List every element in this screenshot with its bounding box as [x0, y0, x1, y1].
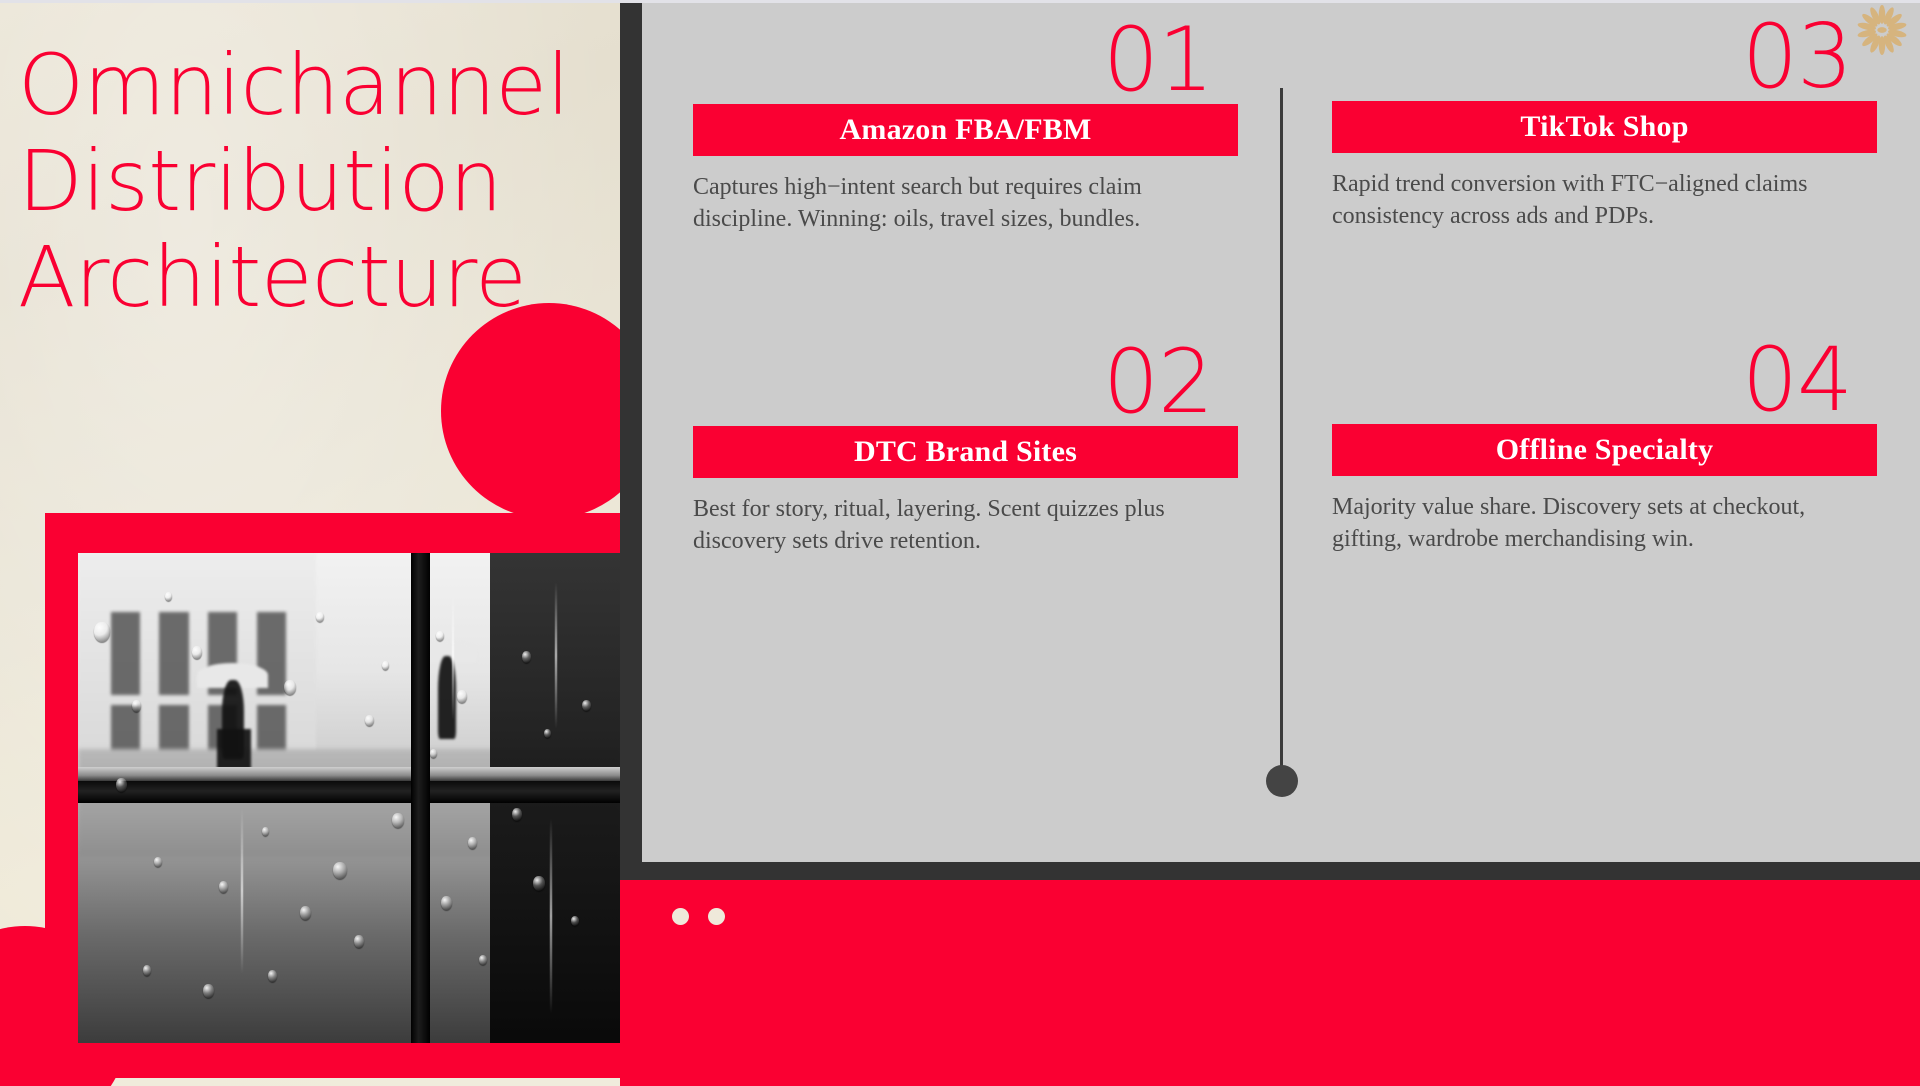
page-top-edge	[0, 0, 1920, 3]
photo-frame	[45, 513, 620, 1078]
cream-dot-2	[708, 908, 725, 925]
red-circle-decoration-right	[441, 303, 620, 519]
card-title-bar: TikTok Shop	[1332, 101, 1877, 153]
vertical-timeline-divider	[1280, 88, 1283, 772]
card-number: 01	[693, 18, 1238, 102]
cream-dot-1	[672, 908, 689, 925]
rainy-window-photo	[78, 553, 620, 1043]
card-title: TikTok Shop	[1520, 110, 1688, 144]
content-panel: 01 Amazon FBA/FBM Captures high−intent s…	[642, 0, 1920, 862]
card-description: Best for story, ritual, layering. Scent …	[693, 494, 1223, 557]
channel-card-04[interactable]: 04 Offline Specialty Majority value shar…	[1332, 338, 1877, 556]
card-title-bar: DTC Brand Sites	[693, 426, 1238, 478]
card-description: Rapid trend conversion with FTC−aligned …	[1332, 169, 1877, 232]
footer-red-band	[620, 880, 1920, 1086]
card-title: DTC Brand Sites	[854, 435, 1077, 469]
slide-canvas: Omnichannel Distribution Architecture	[0, 0, 1920, 1086]
card-title: Amazon FBA/FBM	[840, 113, 1092, 147]
title-line-3: Architecture	[18, 230, 598, 326]
title-line-2: Distribution	[18, 134, 598, 230]
slide-title: Omnichannel Distribution Architecture	[18, 38, 598, 325]
card-description: Majority value share. Discovery sets at …	[1332, 492, 1877, 555]
card-title-bar: Offline Specialty	[1332, 424, 1877, 476]
card-title: Offline Specialty	[1496, 433, 1714, 467]
title-line-1: Omnichannel	[18, 38, 598, 134]
channel-card-03[interactable]: 03 TikTok Shop Rapid trend conversion wi…	[1332, 15, 1877, 233]
channel-card-02[interactable]: 02 DTC Brand Sites Best for story, ritua…	[693, 340, 1238, 558]
frame-strip-horizontal	[620, 862, 1920, 882]
card-number: 03	[1332, 15, 1877, 99]
card-description: Captures high−intent search but requires…	[693, 172, 1223, 235]
frame-strip-vertical	[620, 0, 642, 880]
card-number: 04	[1332, 338, 1877, 422]
timeline-end-dot	[1266, 765, 1298, 797]
card-title-bar: Amazon FBA/FBM	[693, 104, 1238, 156]
card-number: 02	[693, 340, 1238, 424]
channel-card-01[interactable]: 01 Amazon FBA/FBM Captures high−intent s…	[693, 18, 1238, 236]
left-title-panel: Omnichannel Distribution Architecture	[0, 0, 620, 1086]
